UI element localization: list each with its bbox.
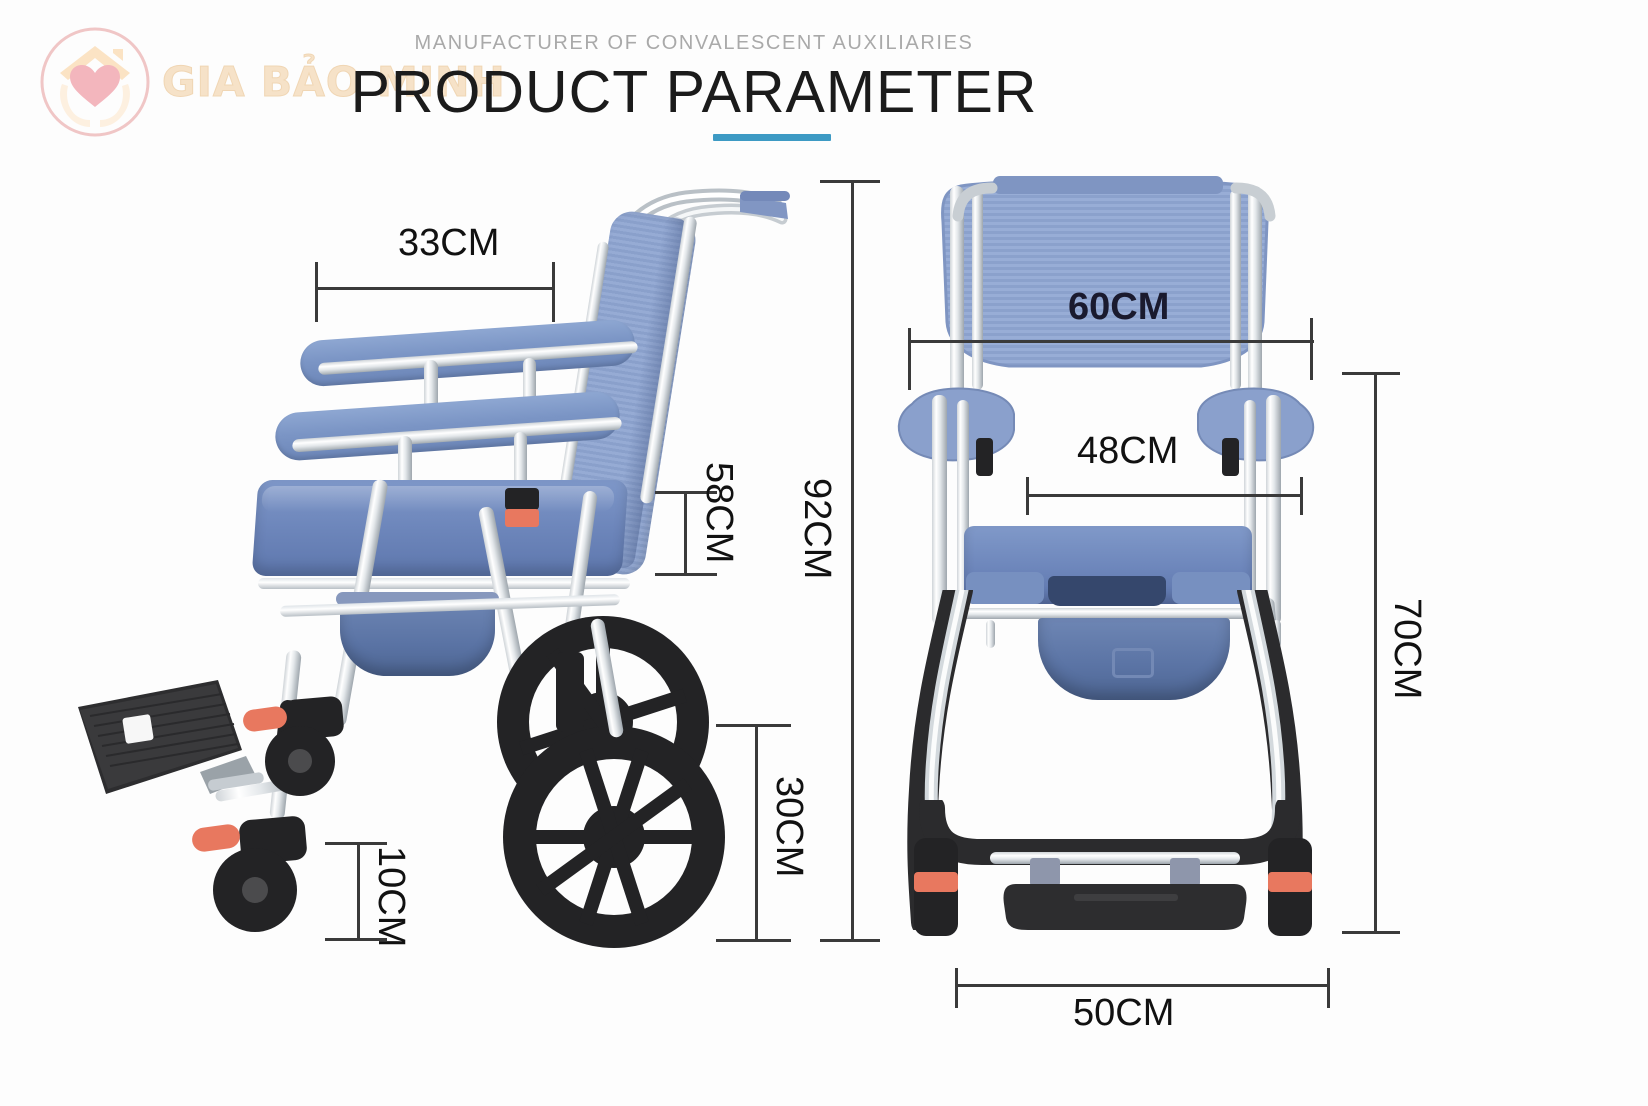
side-seat-belt-clip [505,488,539,510]
side-seat-belt-red-tab [505,509,539,527]
front-seat-commode-opening [1048,576,1166,606]
front-caster-left-brake [914,872,958,892]
dimension-10cm-label: 10CM [369,846,412,947]
front-commode-bucket-handle [1112,648,1154,678]
dimension-70cm-label: 70CM [1385,598,1428,699]
dimension-30cm-label: 30CM [767,776,810,877]
product-parameter-page: GIA BẢO MINH MANUFACTURER OF CONVALESCEN… [0,0,1648,1106]
dimension-58cm-label: 58CM [697,462,740,563]
header-subtitle: MANUFACTURER OF CONVALESCENT AUXILIARIES [0,32,1518,55]
side-rear-wheel-bracket [556,652,584,732]
side-front-caster-hub [242,877,268,903]
dimension-48cm-label: 48CM [1077,430,1178,473]
page-title: PRODUCT PARAMETER [0,58,1518,126]
front-armrest-latch-left [976,438,993,476]
side-second-caster-hub [288,749,312,773]
dimension-60cm-label: 60CM [1068,286,1169,329]
dimension-92cm-label: 92CM [795,478,838,579]
dimension-50cm-label: 50CM [1073,992,1174,1035]
front-caster-right-brake [1268,872,1312,892]
front-armrest-latch-right [1222,438,1239,476]
front-lower-cross-rail [990,852,1240,864]
title-underline-accent [713,134,831,141]
side-seat-cushion-highlight [261,486,615,512]
dimension-33cm-label: 33CM [398,222,499,265]
